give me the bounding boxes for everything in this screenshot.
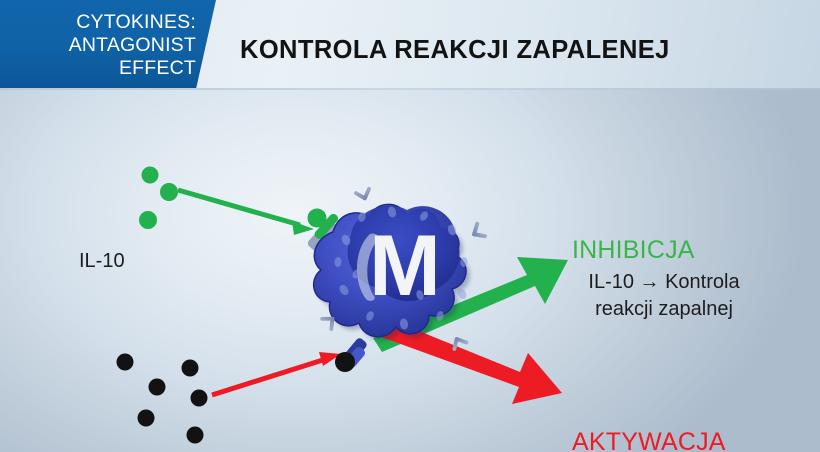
- cytokine-particles: [117, 354, 208, 444]
- diagram-canvas: M: [0, 90, 820, 452]
- banner-line-3: EFFECT: [0, 57, 196, 80]
- slide-header: CYTOKINES: ANTAGONIST EFFECT KONTROLA RE…: [0, 0, 820, 92]
- banner-line-2: ANTAGONIST: [0, 34, 196, 57]
- label-il10: IL-10: [79, 250, 125, 273]
- slide: CYTOKINES: ANTAGONIST EFFECT KONTROLA RE…: [0, 0, 820, 452]
- inhibition-line-1: IL-10 → Kontrola: [588, 271, 739, 293]
- activation-heading: AKTYWACJA: [572, 428, 813, 452]
- cytokine-particle: [117, 354, 134, 371]
- banner-line-1: CYTOKINES:: [0, 11, 196, 34]
- inhibition-heading: INHIBICJA: [572, 236, 810, 265]
- cytokine-particle: [182, 360, 199, 377]
- cytokine-receptor-complex: [335, 337, 368, 372]
- inhibition-line-2: reakcji zapalnej: [564, 296, 764, 323]
- cytokine-particle: [191, 390, 208, 407]
- inhibition-description: IL-10 → Kontrola reakcji zapalnej: [564, 269, 764, 323]
- outcome-activation: AKTYWACJA IL-1 i TNFα → Zapalenie: [568, 428, 813, 452]
- section-banner-text: CYTOKINES: ANTAGONIST EFFECT: [0, 11, 196, 80]
- outcome-inhibition: INHIBICJA IL-10 → Kontrola reakcji zapal…: [570, 236, 810, 323]
- il10-particle: [160, 183, 178, 201]
- page-title: KONTROLA REAKCJI ZAPALENEJ: [240, 36, 800, 65]
- il10-particle: [139, 211, 157, 229]
- cytokine-particle: [138, 410, 155, 427]
- cytokine-particle: [187, 427, 204, 444]
- il10-particle: [142, 167, 159, 184]
- arrow-cytokines-to-cell: [212, 352, 341, 395]
- arrow-il10-to-cell: [178, 190, 314, 235]
- macrophage-letter: M: [369, 218, 441, 314]
- il10-particles: [139, 167, 178, 230]
- cytokine-particle: [149, 379, 166, 396]
